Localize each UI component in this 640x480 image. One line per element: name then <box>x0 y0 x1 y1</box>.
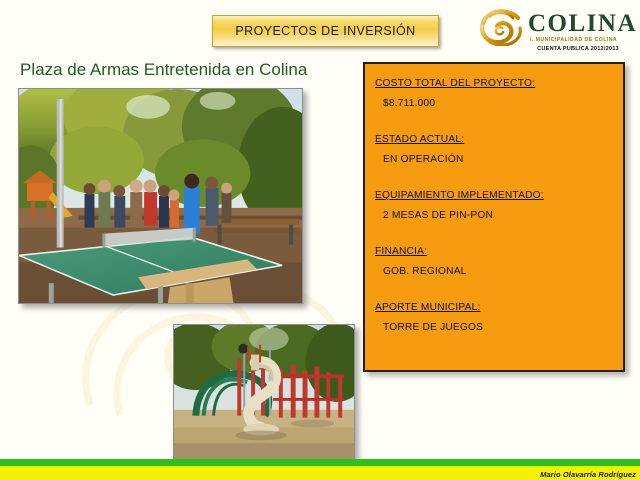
info-value-cost: $8.711.000 <box>383 98 623 109</box>
colina-swirl-logo-icon <box>478 8 524 46</box>
info-label-status: ESTADO ACTUAL: <box>375 134 464 145</box>
info-field-municipal-contribution: APORTE MUNICIPAL: TORRE DE JUEGOS <box>375 297 623 333</box>
logo-account-line: CUENTA PUBLICA 2012/2013 <box>518 46 638 52</box>
info-value-municipal-contribution: TORRE DE JUEGOS <box>383 322 623 333</box>
project-info-panel: COSTO TOTAL DEL PROYECTO: $8.711.000 EST… <box>363 62 625 372</box>
field-spacer <box>375 168 623 185</box>
info-label-financing: FINANCIA: <box>375 246 427 257</box>
playground-tower-photo <box>173 324 355 462</box>
info-label-cost: COSTO TOTAL DEL PROYECTO: <box>375 78 535 89</box>
info-value-financing: GOB. REGIONAL <box>383 266 623 277</box>
info-field-status: ESTADO ACTUAL: EN OPERACIÓN <box>375 129 623 165</box>
info-field-financing: FINANCIA: GOB. REGIONAL <box>375 241 623 277</box>
logo-subtitle: I. MUNICIPALIDAD DE COLINA <box>530 37 617 43</box>
footer-green-stripe <box>0 459 640 466</box>
info-field-equipment: EQUIPAMIENTO IMPLEMENTADO: 2 MESAS DE PI… <box>375 185 623 221</box>
park-ping-pong-photo <box>18 88 303 304</box>
municipality-logo: COLINA I. MUNICIPALIDAD DE COLINA CUENTA… <box>478 6 638 58</box>
info-label-municipal-contribution: APORTE MUNICIPAL: <box>375 302 480 313</box>
info-label-equipment: EQUIPAMIENTO IMPLEMENTADO: <box>375 190 544 201</box>
slide-title-text: PROYECTOS DE INVERSIÓN <box>235 24 415 38</box>
logo-wordmark: COLINA <box>528 11 637 36</box>
field-spacer <box>375 112 623 129</box>
slide-title-banner: PROYECTOS DE INVERSIÓN <box>212 15 439 47</box>
info-value-status: EN OPERACIÓN <box>383 154 623 165</box>
info-field-cost: COSTO TOTAL DEL PROYECTO: $8.711.000 <box>375 73 623 109</box>
page-title: Plaza de Armas Entretenida en Colina <box>20 60 307 80</box>
field-spacer <box>375 280 623 297</box>
info-value-equipment: 2 MESAS DE PIN-PON <box>383 210 623 221</box>
footer-credit-text: Mario Olavarría Rodríguez <box>540 470 636 479</box>
field-spacer <box>375 224 623 241</box>
